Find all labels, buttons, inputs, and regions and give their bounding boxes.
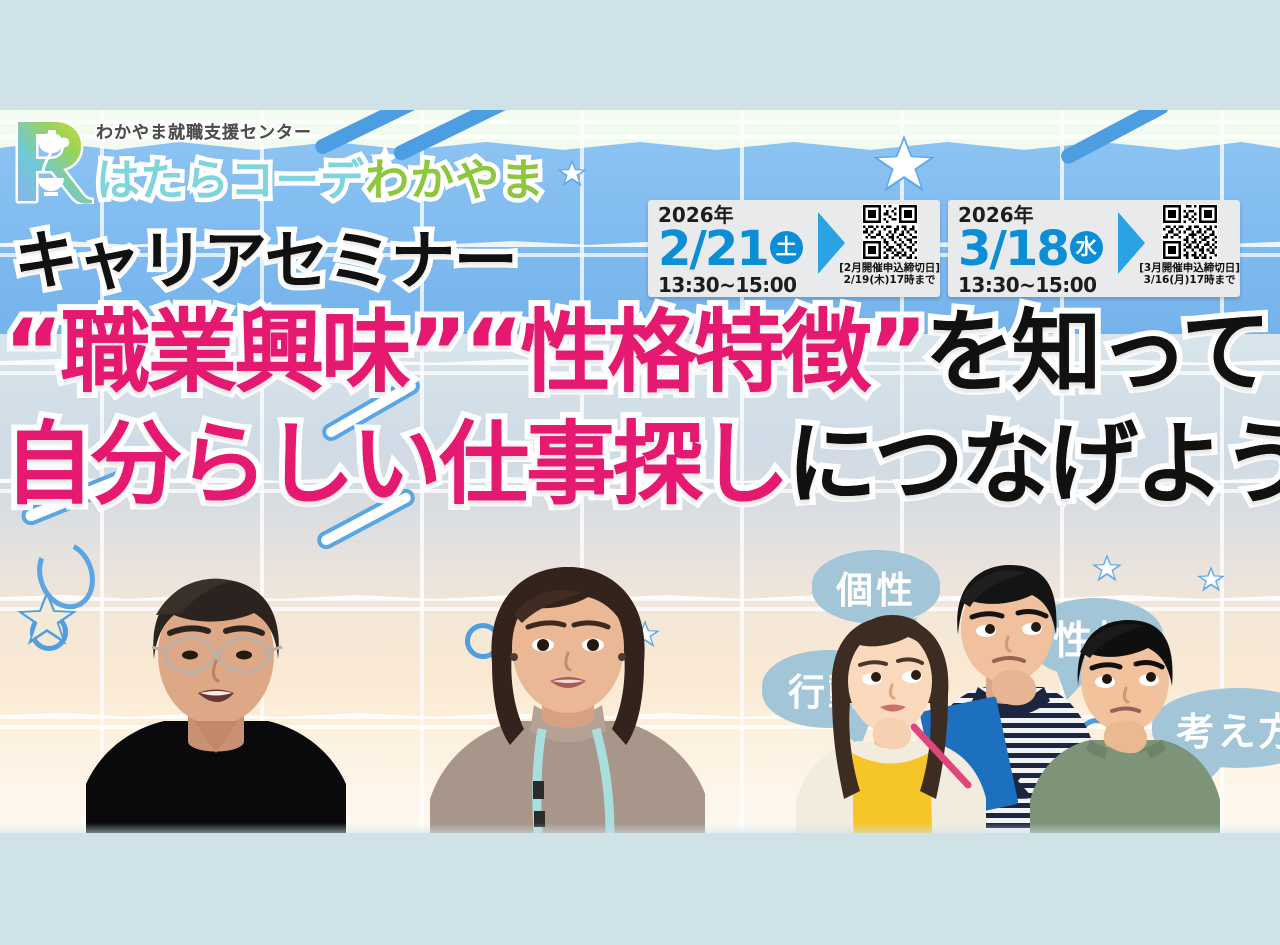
headline-kicker: キャリアセミナー bbox=[14, 230, 517, 294]
headline-line2-pink: “職業興味”“性格特徴” bbox=[4, 300, 925, 405]
r-teapot-logo-icon bbox=[8, 116, 94, 204]
organization-logo-text: わかやま就職支援センター わかやま就職支援センター はたらコーデわかやま はたら… bbox=[96, 118, 312, 196]
headline-block: キャリアセミナー キャリアセミナー “職業興味”“性格特徴”を知って “職業興味… bbox=[0, 230, 1280, 532]
poster-stage: わかやま就職支援センター わかやま就職支援センター はたらコーデわかやま はたら… bbox=[0, 0, 1280, 945]
organization-name-part1: はたら bbox=[96, 155, 230, 206]
bottom-fade bbox=[0, 823, 1280, 833]
organization-name: はたらコーデわかやま bbox=[96, 144, 545, 208]
organization-subtitle: わかやま就職支援センター bbox=[96, 118, 312, 143]
photo-presenter-female bbox=[430, 553, 705, 833]
headline-line3-black: につなげよう bbox=[787, 412, 1280, 517]
organization-name-part3: わかやま bbox=[365, 155, 545, 206]
headline-line2: “職業興味”“性格特徴”を知って bbox=[4, 308, 1268, 398]
photo-student-female-yellow bbox=[796, 603, 986, 833]
headline-line3-pink: 自分らしい仕事探し bbox=[4, 412, 787, 517]
poster-content: わかやま就職支援センター わかやま就職支援センター はたらコーデわかやま はたら… bbox=[0, 110, 1280, 833]
headline-line3: 自分らしい仕事探しにつなげよう bbox=[4, 420, 1280, 510]
organization-logo: わかやま就職支援センター わかやま就職支援センター はたらコーデわかやま はたら… bbox=[8, 114, 478, 206]
photo-presenter-male bbox=[86, 563, 346, 833]
photo-student-male-green bbox=[1030, 618, 1220, 833]
headline-line2-black: を知って bbox=[925, 300, 1269, 405]
organization-name-part2: コーデ bbox=[230, 155, 365, 206]
